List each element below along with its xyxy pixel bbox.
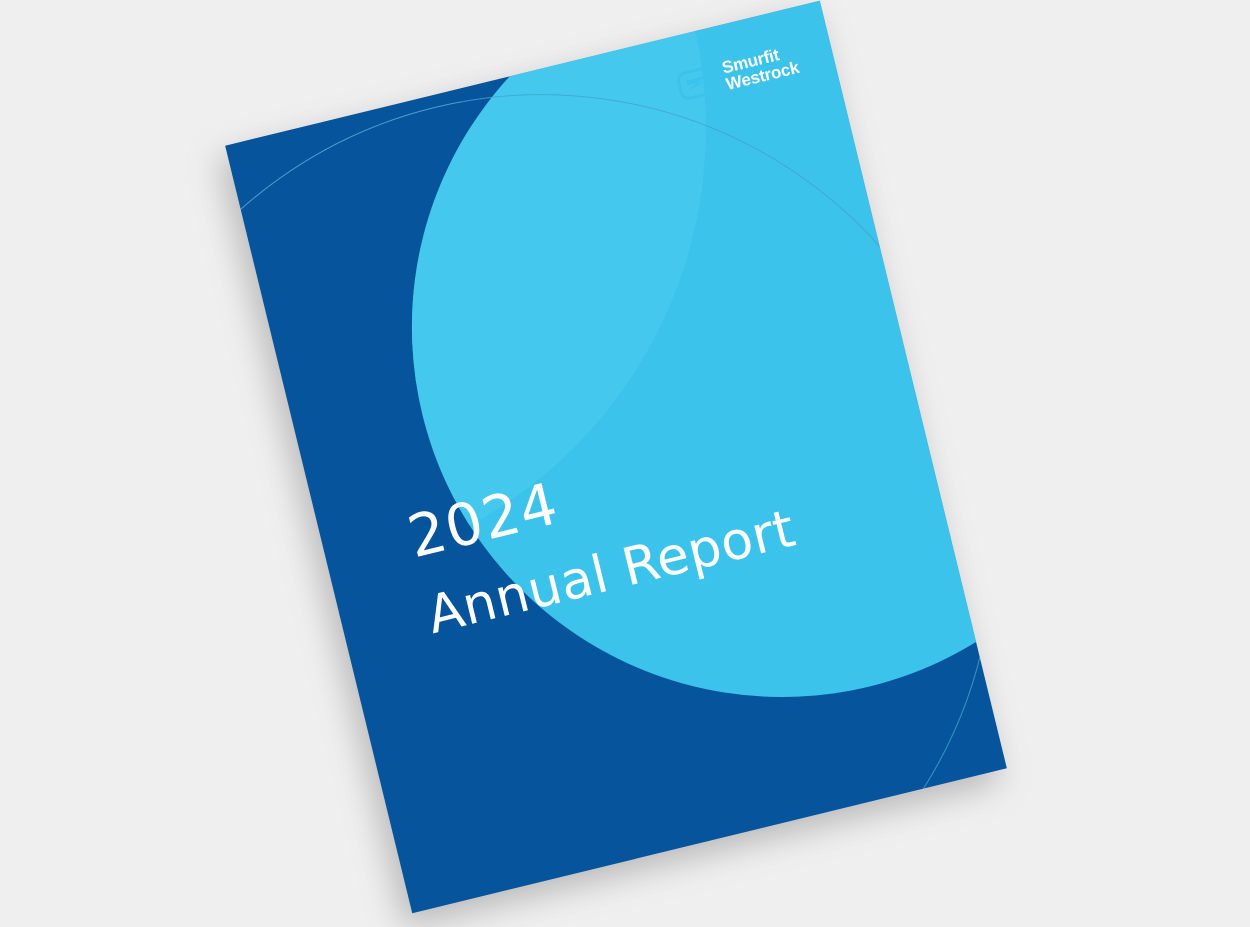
- smurfit-westrock-wave-mark-icon: [675, 64, 719, 102]
- annual-report-cover[interactable]: Smurfit Westrock 2024 Annual Report: [225, 1, 1007, 913]
- cover-face: Smurfit Westrock 2024 Annual Report: [225, 1, 1007, 913]
- page-canvas: Smurfit Westrock 2024 Annual Report: [0, 0, 1250, 914]
